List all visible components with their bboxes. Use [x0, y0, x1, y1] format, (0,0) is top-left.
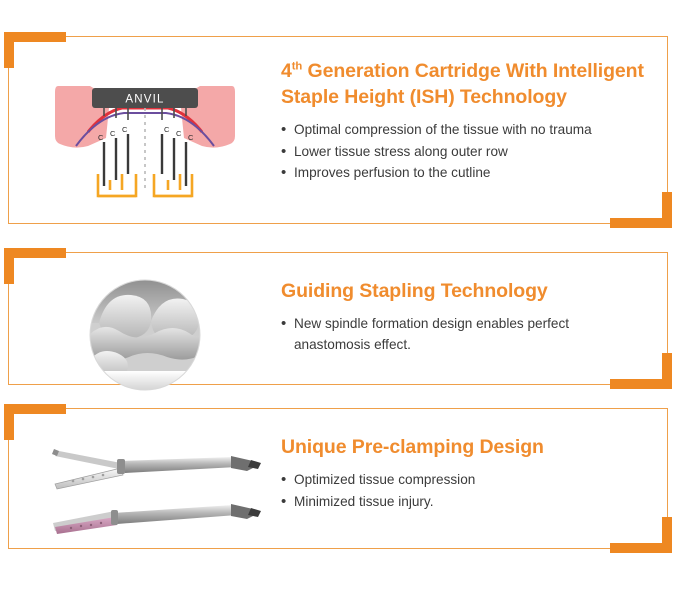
corner-bracket-bottom-right-vertical	[662, 353, 672, 389]
corner-bracket-top-left-vertical	[4, 404, 14, 440]
card-2-content: Guiding Stapling Technology New spindle …	[281, 279, 667, 356]
svg-text:C: C	[98, 133, 104, 142]
svg-text:C: C	[110, 129, 116, 138]
stapler-open-jaws	[52, 449, 261, 489]
card-1-content: 4th Generation Cartridge With Intelligen…	[281, 59, 667, 185]
micrograph-svg	[89, 279, 201, 391]
card-2-title: Guiding Stapling Technology	[281, 279, 645, 305]
svg-text:C: C	[188, 133, 194, 142]
card-1-title-rest: Generation Cartridge With Intelligent St…	[281, 60, 644, 108]
corner-bracket-top-left-vertical	[4, 248, 14, 284]
list-item: Optimal compression of the tissue with n…	[281, 120, 645, 141]
stapler-closed-pink-jaw	[53, 504, 261, 534]
list-item: Lower tissue stress along outer row	[281, 142, 645, 163]
anvil-staple-cartridge-diagram: ANVIL C C	[9, 59, 281, 219]
svg-text:C: C	[122, 125, 128, 134]
corner-bracket-bottom-right-vertical	[662, 192, 672, 228]
card-3-content: Unique Pre-clamping Design Optimized tis…	[281, 435, 667, 513]
card-3-bullet-list: Optimized tissue compression Minimized t…	[281, 470, 645, 512]
feature-card-3: Unique Pre-clamping Design Optimized tis…	[8, 408, 668, 549]
anvil-label: ANVIL	[125, 94, 164, 106]
svg-text:C: C	[164, 125, 170, 134]
staple-height-labels: C C C C C C	[98, 125, 194, 142]
list-item: Optimized tissue compression	[281, 470, 645, 491]
feature-card-2: Guiding Stapling Technology New spindle …	[8, 252, 668, 385]
anvil-diagram-svg: ANVIL C C	[50, 64, 240, 214]
card-1-title-superscript: th	[292, 61, 302, 73]
card-2-bullet-list: New spindle formation design enables per…	[281, 314, 645, 355]
list-item: New spindle formation design enables per…	[281, 314, 645, 355]
staple-line-micrograph-circle	[9, 279, 281, 391]
stapler-instruments-svg	[25, 439, 265, 549]
card-1-bullet-list: Optimal compression of the tissue with n…	[281, 120, 645, 184]
svg-text:C: C	[176, 129, 182, 138]
feature-card-1: ANVIL C C	[8, 36, 668, 224]
feature-cards-page: ANVIL C C	[0, 0, 680, 590]
corner-bracket-top-left-vertical	[4, 32, 14, 68]
card-1-title-prefix: 4	[281, 60, 292, 82]
list-item: Improves perfusion to the cutline	[281, 163, 645, 184]
endoscopic-stapler-instruments	[9, 435, 281, 553]
corner-bracket-bottom-right-vertical	[662, 517, 672, 553]
card-3-title: Unique Pre-clamping Design	[281, 435, 645, 461]
list-item: Minimized tissue injury.	[281, 492, 645, 513]
card-1-title: 4th Generation Cartridge With Intelligen…	[281, 59, 645, 111]
